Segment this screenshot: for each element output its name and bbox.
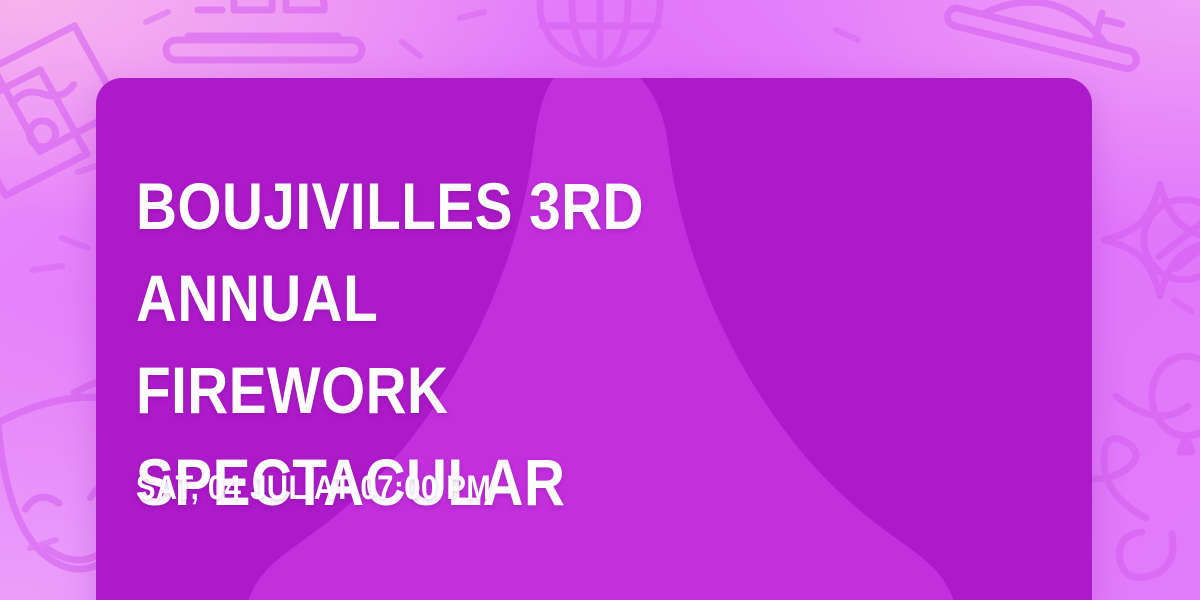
card-content: Boujivilles 3rd Annual Firework Spectacu… <box>136 78 1036 600</box>
event-banner: Boujivilles 3rd Annual Firework Spectacu… <box>0 0 1200 600</box>
event-card[interactable]: Boujivilles 3rd Annual Firework Spectacu… <box>96 78 1092 600</box>
event-date: Sat, 04 Jul at 07:00 PM <box>136 466 491 510</box>
